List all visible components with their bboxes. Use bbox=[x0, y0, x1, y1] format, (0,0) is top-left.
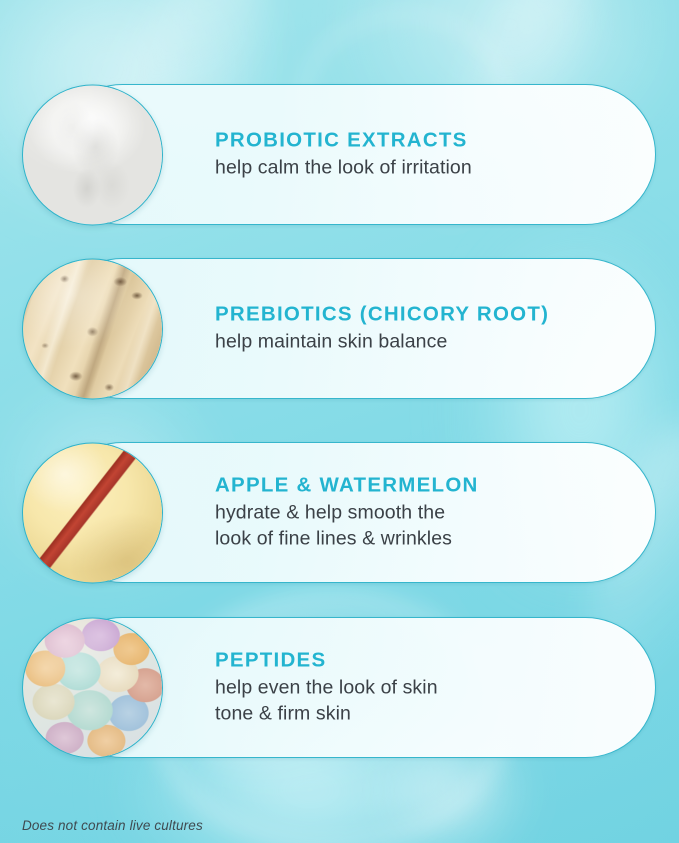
benefit-heading: PROBIOTIC EXTRACTS bbox=[215, 128, 635, 152]
benefit-description-line: help maintain skin balance bbox=[215, 329, 635, 355]
benefit-copy: APPLE & WATERMELON hydrate & help smooth… bbox=[215, 473, 635, 552]
benefit-copy: PROBIOTIC EXTRACTS help calm the look of… bbox=[215, 128, 635, 181]
thumbnail-image bbox=[23, 443, 162, 582]
benefit-description-line: look of fine lines & wrinkles bbox=[215, 526, 635, 552]
thumbnail-gloss bbox=[23, 618, 162, 757]
benefit-row-probiotic-extracts: PROBIOTIC EXTRACTS help calm the look of… bbox=[22, 84, 656, 225]
benefit-heading: PREBIOTICS (CHICORY ROOT) bbox=[215, 302, 635, 326]
benefit-description: hydrate & help smooth the look of fine l… bbox=[215, 500, 635, 552]
benefit-description: help calm the look of irritation bbox=[215, 155, 635, 181]
thumbnail-chicory-root-fibers bbox=[22, 258, 163, 399]
benefit-heading: PEPTIDES bbox=[215, 648, 635, 672]
benefit-row-peptides: PEPTIDES help even the look of skin tone… bbox=[22, 617, 656, 758]
benefit-description-line: hydrate & help smooth the bbox=[215, 500, 635, 526]
benefit-description-line: help calm the look of irritation bbox=[215, 155, 635, 181]
benefit-description: help maintain skin balance bbox=[215, 329, 635, 355]
thumbnail-white-cream-swirl bbox=[22, 84, 163, 225]
thumbnail-gloss bbox=[23, 85, 162, 224]
thumbnail-pastel-gel-beads bbox=[22, 617, 163, 758]
benefit-description-line: tone & firm skin bbox=[215, 701, 635, 727]
benefit-row-apple-and-watermelon: APPLE & WATERMELON hydrate & help smooth… bbox=[22, 442, 656, 583]
thumbnail-gloss bbox=[23, 259, 162, 398]
thumbnail-gloss bbox=[23, 443, 162, 582]
benefit-description: help even the look of skin tone & firm s… bbox=[215, 675, 635, 727]
benefit-row-prebiotics-chicory-root: PREBIOTICS (CHICORY ROOT) help maintain … bbox=[22, 258, 656, 399]
benefit-description-line: help even the look of skin bbox=[215, 675, 635, 701]
ingredient-benefits-infographic: PROBIOTIC EXTRACTS help calm the look of… bbox=[0, 0, 679, 843]
benefit-copy: PREBIOTICS (CHICORY ROOT) help maintain … bbox=[215, 302, 635, 355]
benefit-heading: APPLE & WATERMELON bbox=[215, 473, 635, 497]
benefit-copy: PEPTIDES help even the look of skin tone… bbox=[215, 648, 635, 727]
thumbnail-apple-slices bbox=[22, 442, 163, 583]
disclaimer-footnote: Does not contain live cultures bbox=[22, 818, 203, 833]
